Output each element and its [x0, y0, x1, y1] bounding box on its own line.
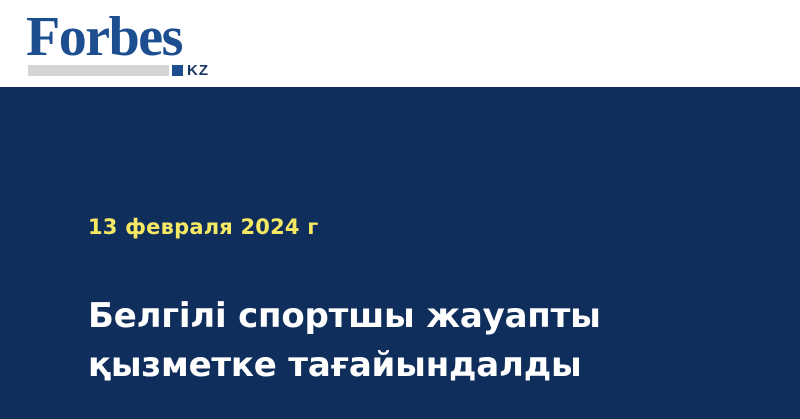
- logo-wordmark: Forbes: [26, 9, 182, 65]
- logo-kz-label: KZ: [187, 63, 209, 78]
- page-title: Белгілі спортшы жауапты қызметке тағайын…: [88, 292, 648, 390]
- page-title-line: Белгілі спортшы жауапты: [88, 292, 648, 341]
- article-card: Forbes KZ 13 февраля 2024 г Белгілі спор…: [0, 0, 800, 419]
- forbes-kz-logo[interactable]: Forbes KZ: [26, 9, 236, 79]
- blue-square-icon: [172, 65, 183, 76]
- logo-rule: [28, 65, 169, 76]
- publish-date: 13 февраля 2024 г: [88, 214, 318, 240]
- site-header: Forbes KZ: [0, 0, 800, 87]
- page-title-line: қызметке тағайындалды: [88, 341, 648, 390]
- hero-banner: 13 февраля 2024 г Белгілі спортшы жауапт…: [0, 87, 800, 419]
